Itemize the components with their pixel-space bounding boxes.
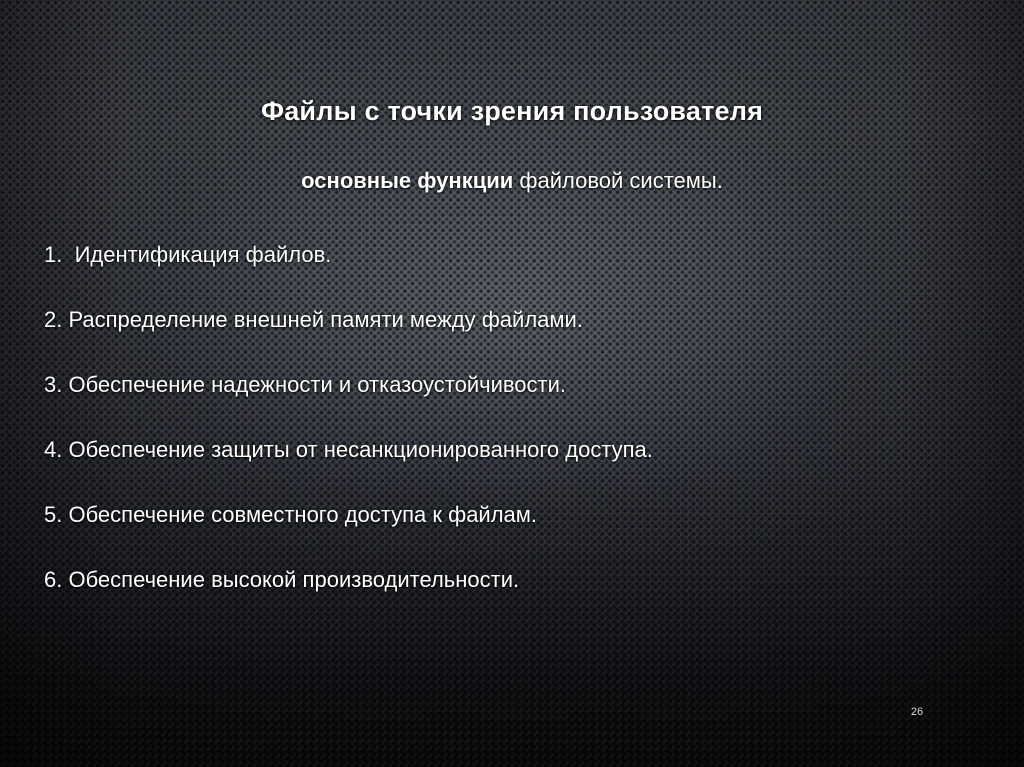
subtitle-plain-text: файловой системы. — [513, 168, 723, 193]
list-item: 1. Идентификация файлов. — [44, 240, 964, 305]
presentation-slide: Файлы с точки зрения пользователя основн… — [0, 0, 1024, 767]
page-number: 26 — [900, 706, 934, 718]
list-item: 2. Распределение внешней памяти между фа… — [44, 305, 964, 370]
functions-list: 1. Идентификация файлов. 2. Распределени… — [44, 240, 964, 630]
subtitle-strong-text: основные функции — [301, 168, 513, 193]
list-item: 5. Обеспечение совместного доступа к фай… — [44, 500, 964, 565]
slide-content: Файлы с точки зрения пользователя основн… — [0, 0, 1024, 767]
list-item: 3. Обеспечение надежности и отказоустойч… — [44, 370, 964, 435]
slide-title: Файлы с точки зрения пользователя — [0, 96, 1024, 127]
list-item: 6. Обеспечение высокой производительност… — [44, 565, 964, 630]
list-item: 4. Обеспечение защиты от несанкционирова… — [44, 435, 964, 500]
slide-subtitle: основные функции файловой системы. — [0, 168, 1024, 194]
